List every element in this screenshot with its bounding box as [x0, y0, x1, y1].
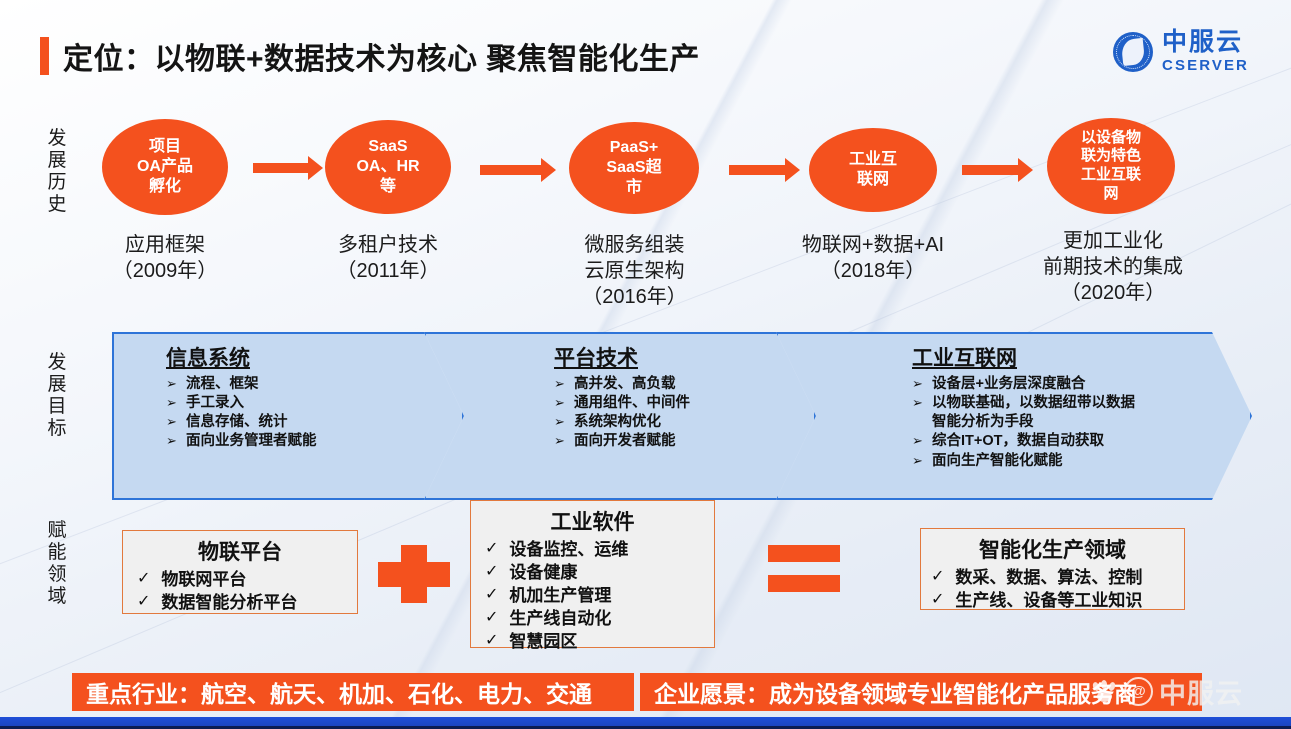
empower-box-smart-production[interactable]: 智能化生产领域 ✓数采、数据、算法、控制 ✓生产线、设备等工业知识	[920, 528, 1185, 610]
list-item: ✓智慧园区	[485, 630, 708, 653]
empower-box-items: ✓物联网平台 ✓数据智能分析平台	[123, 568, 357, 618]
timeline-caption-5: 更加工业化前期技术的集成（2020年）	[1008, 228, 1218, 306]
check-icon: ✓	[485, 538, 498, 561]
item-text: 智慧园区	[509, 630, 577, 653]
timeline-caption-1: 应用框架（2009年）	[85, 232, 245, 284]
bullet-text: 通用组件、中间件	[574, 394, 690, 413]
list-item: ✓物联网平台	[137, 568, 351, 591]
list-item: ➢设备层+业务层深度融合	[912, 375, 1140, 394]
bullet-text: 系统架构优化	[574, 413, 661, 432]
empower-box-title: 工业软件	[471, 506, 714, 536]
page-title: 定位：以物联+数据技术为核心 聚焦智能化生产	[40, 34, 700, 78]
chevron-bullet-icon: ➢	[166, 375, 177, 394]
timeline-bubble-label: SaaSOA、HR等	[348, 137, 427, 197]
bullet-text: 手工录入	[186, 394, 244, 413]
plus-icon	[378, 545, 450, 603]
equals-icon	[768, 545, 840, 593]
chevron-bullet-icon: ➢	[554, 413, 565, 432]
timeline-bubble-label: 以设备物联为特色工业互联网	[1073, 129, 1149, 204]
logo-emblem-icon	[1113, 32, 1153, 72]
goal-stage-title: 平台技术	[554, 342, 690, 372]
logo-name-en: CSERVER	[1162, 58, 1249, 73]
timeline-bubble-label: 工业互联网	[841, 150, 905, 190]
bullet-text: 面向业务管理者赋能	[186, 432, 317, 451]
timeline-arrow-4	[962, 165, 1019, 175]
chevron-bullet-icon: ➢	[912, 375, 923, 394]
item-text: 生产线、设备等工业知识	[955, 589, 1142, 612]
goal-stage-bullets: ➢设备层+业务层深度融合 ➢以物联基础，以数据纽带以数据智能分析为手段 ➢综合I…	[912, 375, 1140, 471]
item-text: 机加生产管理	[509, 584, 611, 607]
timeline-bubble-label: 项目OA产品孵化	[129, 137, 201, 197]
chevron-bullet-icon: ➢	[554, 375, 565, 394]
chevron-bullet-icon: ➢	[166, 432, 177, 451]
list-item: ➢面向生产智能化赋能	[912, 452, 1140, 471]
list-item: ➢以物联基础，以数据纽带以数据智能分析为手段	[912, 394, 1140, 432]
timeline-arrow-1	[253, 163, 309, 173]
title-accent-bar	[40, 37, 49, 75]
goal-stage-3[interactable]: 工业互联网 ➢设备层+业务层深度融合 ➢以物联基础，以数据纽带以数据智能分析为手…	[776, 332, 1252, 500]
row-label-empower: 赋能领域	[42, 520, 72, 608]
item-text: 设备健康	[509, 561, 577, 584]
timeline-arrow-2	[480, 165, 542, 175]
item-text: 物联网平台	[161, 568, 246, 591]
empower-box-iot-platform[interactable]: 物联平台 ✓物联网平台 ✓数据智能分析平台	[122, 530, 358, 614]
bottom-accent-strip	[0, 717, 1291, 729]
list-item: ➢面向开发者赋能	[554, 432, 690, 451]
list-item: ➢手工录入	[166, 394, 317, 413]
list-item: ➢高并发、高负载	[554, 375, 690, 394]
bullet-text: 以物联基础，以数据纽带以数据智能分析为手段	[932, 394, 1140, 432]
goal-stage-1[interactable]: 信息系统 ➢流程、框架 ➢手工录入 ➢信息存储、统计 ➢面向业务管理者赋能	[112, 332, 464, 500]
list-item: ➢面向业务管理者赋能	[166, 432, 317, 451]
list-item: ✓数据智能分析平台	[137, 591, 351, 614]
check-icon: ✓	[137, 568, 150, 591]
check-icon: ✓	[137, 591, 150, 614]
list-item: ✓机加生产管理	[485, 584, 708, 607]
goal-stage-title: 工业互联网	[912, 342, 1140, 372]
check-icon: ✓	[931, 589, 944, 612]
row-label-goal: 发展目标	[42, 352, 72, 440]
timeline-bubble-5[interactable]: 以设备物联为特色工业互联网	[1047, 118, 1175, 214]
empower-box-title: 智能化生产领域	[921, 534, 1184, 564]
bullet-text: 面向生产智能化赋能	[932, 452, 1063, 471]
empower-box-items: ✓数采、数据、算法、控制 ✓生产线、设备等工业知识	[921, 566, 1184, 616]
chevron-bullet-icon: ➢	[912, 394, 923, 432]
empower-box-items: ✓设备监控、运维 ✓设备健康 ✓机加生产管理 ✓生产线自动化 ✓智慧园区	[471, 538, 714, 658]
chevron-bullet-icon: ➢	[554, 432, 565, 451]
check-icon: ✓	[485, 607, 498, 630]
list-item: ➢系统架构优化	[554, 413, 690, 432]
timeline-bubble-3[interactable]: PaaS+SaaS超市	[569, 122, 699, 214]
check-icon: ✓	[485, 561, 498, 584]
bullet-text: 综合IT+OT，数据自动获取	[932, 432, 1104, 451]
chevron-bullet-icon: ➢	[912, 432, 923, 451]
timeline-caption-3: 微服务组装云原生架构（2016年）	[552, 232, 717, 310]
chevron-bullet-icon: ➢	[166, 413, 177, 432]
timeline-arrow-3	[729, 165, 786, 175]
goal-stage-bullets: ➢流程、框架 ➢手工录入 ➢信息存储、统计 ➢面向业务管理者赋能	[166, 375, 317, 452]
check-icon: ✓	[931, 566, 944, 589]
list-item: ➢信息存储、统计	[166, 413, 317, 432]
list-item: ✓数采、数据、算法、控制	[931, 566, 1178, 589]
list-item: ✓设备监控、运维	[485, 538, 708, 561]
list-item: ➢通用组件、中间件	[554, 394, 690, 413]
logo-name-cn: 中服云	[1162, 30, 1249, 55]
bullet-text: 设备层+业务层深度融合	[932, 375, 1085, 394]
goal-chevron-band: 信息系统 ➢流程、框架 ➢手工录入 ➢信息存储、统计 ➢面向业务管理者赋能 平台…	[112, 332, 1252, 500]
list-item: ✓生产线、设备等工业知识	[931, 589, 1178, 612]
timeline-caption-2: 多租户技术（2011年）	[308, 232, 468, 284]
brand-logo: 中服云 CSERVER	[1113, 30, 1249, 73]
slide-canvas: 定位：以物联+数据技术为核心 聚焦智能化生产 中服云 CSERVER 发展历史 …	[0, 0, 1291, 729]
bullet-text: 流程、框架	[186, 375, 259, 394]
goal-stage-bullets: ➢高并发、高负载 ➢通用组件、中间件 ➢系统架构优化 ➢面向开发者赋能	[554, 375, 690, 452]
check-icon: ✓	[485, 584, 498, 607]
timeline-caption-4: 物联网+数据+AI（2018年）	[765, 232, 981, 284]
title-text: 定位：以物联+数据技术为核心 聚焦智能化生产	[63, 34, 700, 78]
item-text: 生产线自动化	[509, 607, 611, 630]
timeline-bubble-1[interactable]: 项目OA产品孵化	[102, 119, 228, 215]
row-label-history: 发展历史	[42, 128, 72, 216]
check-icon: ✓	[485, 630, 498, 653]
list-item: ✓设备健康	[485, 561, 708, 584]
footer-bar-key-industries: 重点行业：航空、航天、机加、石化、电力、交通	[72, 673, 634, 711]
bullet-text: 高并发、高负载	[574, 375, 676, 394]
list-item: ➢综合IT+OT，数据自动获取	[912, 432, 1140, 451]
timeline-bubble-4[interactable]: 工业互联网	[809, 128, 937, 212]
footer-bar-vision: 企业愿景：成为设备领域专业智能化产品服务商	[640, 673, 1202, 711]
list-item: ✓生产线自动化	[485, 607, 708, 630]
goal-stage-title: 信息系统	[166, 342, 317, 372]
bullet-text: 面向开发者赋能	[574, 432, 676, 451]
empower-box-industrial-software[interactable]: 工业软件 ✓设备监控、运维 ✓设备健康 ✓机加生产管理 ✓生产线自动化 ✓智慧园…	[470, 500, 715, 648]
chevron-bullet-icon: ➢	[554, 394, 565, 413]
chevron-bullet-icon: ➢	[912, 452, 923, 471]
empower-box-title: 物联平台	[123, 536, 357, 566]
timeline-bubble-2[interactable]: SaaSOA、HR等	[325, 120, 451, 214]
list-item: ➢流程、框架	[166, 375, 317, 394]
goal-stage-2[interactable]: 平台技术 ➢高并发、高负载 ➢通用组件、中间件 ➢系统架构优化 ➢面向开发者赋能	[424, 332, 816, 500]
chevron-bullet-icon: ➢	[166, 394, 177, 413]
timeline-bubble-label: PaaS+SaaS超市	[598, 138, 669, 198]
item-text: 数采、数据、算法、控制	[955, 566, 1142, 589]
bullet-text: 信息存储、统计	[186, 413, 288, 432]
item-text: 设备监控、运维	[509, 538, 628, 561]
item-text: 数据智能分析平台	[161, 591, 297, 614]
